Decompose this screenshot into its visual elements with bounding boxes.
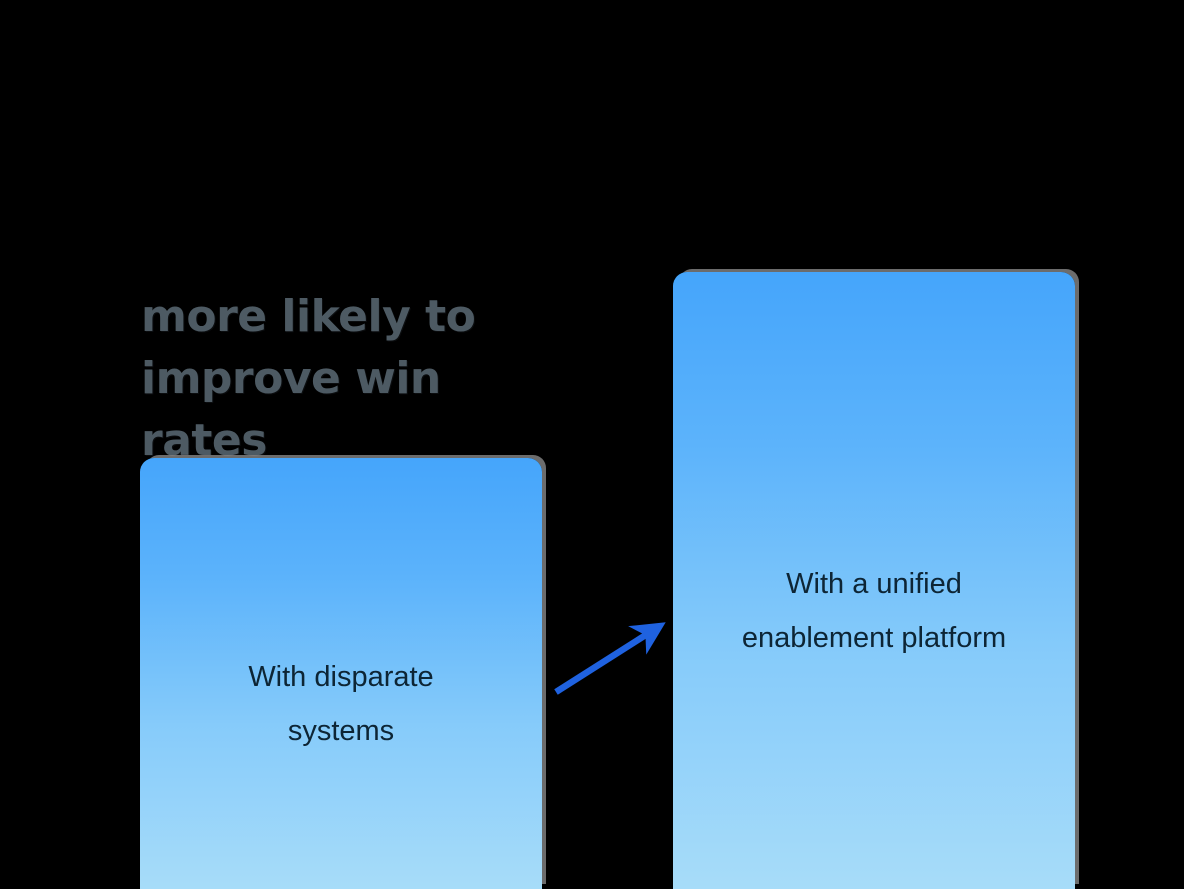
growth-arrow [540, 605, 675, 710]
bar-label-unified-platform: With a unified enablement platform [673, 557, 1075, 665]
page-title: more likely to improve win rates [141, 286, 571, 472]
bar-disparate-systems: With disparate systems [140, 458, 542, 889]
bar-unified-platform: With a unified enablement platform [673, 272, 1075, 889]
bar-label-disparate-systems: With disparate systems [140, 650, 542, 758]
growth-arrow-icon [540, 605, 675, 710]
chart-canvas: more likely to improve win rates With di… [0, 0, 1184, 889]
